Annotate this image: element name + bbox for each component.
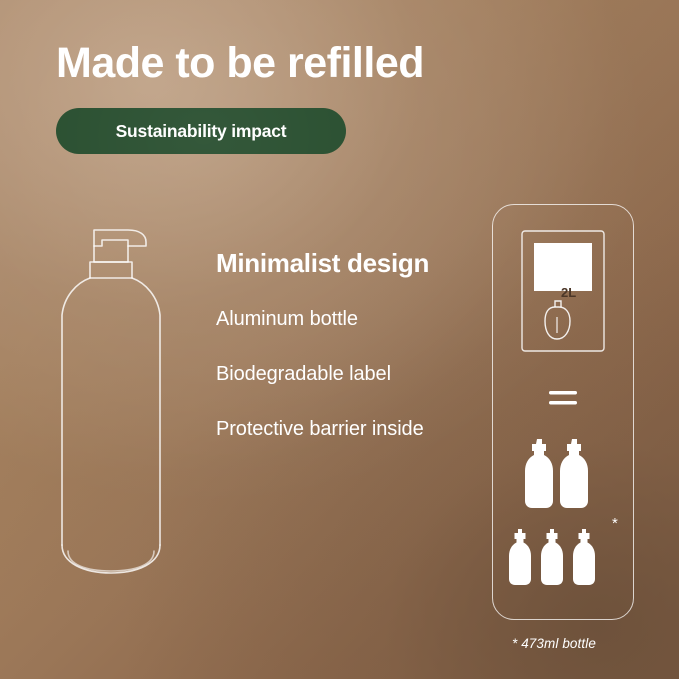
- feature-item: Aluminum bottle: [216, 307, 446, 332]
- feature-item: Biodegradable label: [216, 362, 446, 387]
- asterisk-marker: *: [612, 515, 618, 532]
- pump-bottle-illustration: [50, 215, 200, 595]
- feature-title: Minimalist design: [216, 248, 446, 279]
- sustainability-badge: Sustainability impact: [56, 108, 346, 154]
- refill-volume-label: 2L: [561, 285, 576, 300]
- footnote: * 473ml bottle: [512, 636, 596, 651]
- feature-list: Minimalist design Aluminum bottle Biodeg…: [216, 248, 446, 472]
- badge-label: Sustainability impact: [116, 121, 287, 142]
- refill-equation-panel: 2L *: [492, 204, 634, 620]
- poster-canvas: Made to be refilled Sustainability impac…: [0, 0, 679, 679]
- feature-item: Protective barrier inside: [216, 417, 446, 442]
- page-title: Made to be refilled: [56, 40, 424, 87]
